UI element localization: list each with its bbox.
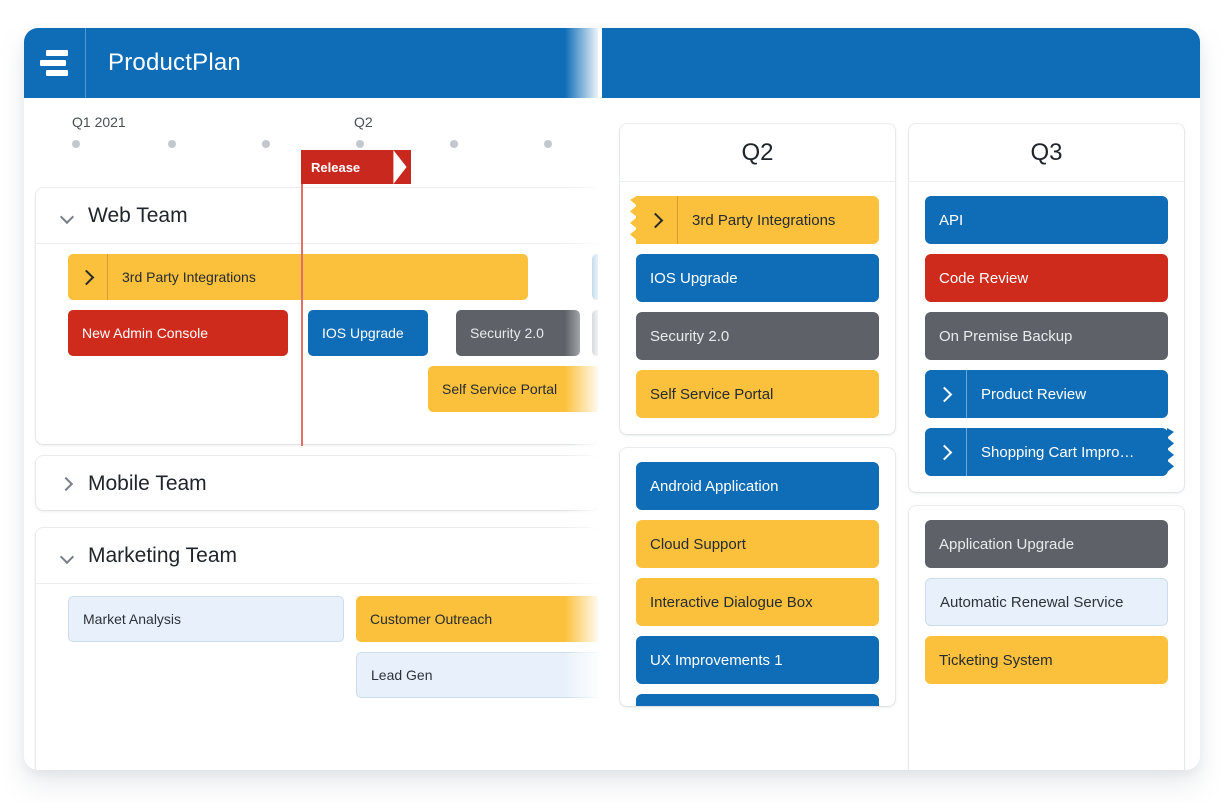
- section-header-mobile-team[interactable]: Mobile Team: [36, 456, 598, 512]
- board-card-label: Code Review: [925, 270, 1028, 287]
- board-card[interactable]: Automatic Renewal Service: [925, 578, 1168, 626]
- board-card[interactable]: IOS Upgrade: [636, 254, 879, 302]
- app-window: ProductPlan Q1 2021Q2 Release Web Team3r…: [24, 28, 1200, 770]
- gantt-section: Web Team3rd Party IntegrationsNew Admin …: [36, 188, 598, 444]
- gantt-bar-label: New Admin Console: [68, 325, 208, 341]
- board-card[interactable]: Product Review: [925, 370, 1168, 418]
- section-title: Mobile Team: [88, 472, 207, 496]
- gantt-panel: ProductPlan Q1 2021Q2 Release Web Team3r…: [24, 28, 598, 770]
- board-card[interactable]: UX Improvements 1: [636, 636, 879, 684]
- timeline-tick-dot: [262, 140, 270, 148]
- gantt-bar[interactable]: Market Analysis: [68, 596, 344, 642]
- gantt-bar[interactable]: Lead Gen: [356, 652, 598, 698]
- gantt-bar[interactable]: [592, 254, 598, 300]
- board-card-label: API: [925, 212, 963, 229]
- board-card[interactable]: 3rd Party Integrations: [636, 196, 879, 244]
- board-card[interactable]: Interactive Dialogue Box: [636, 578, 879, 626]
- expand-chevron-icon[interactable]: [925, 428, 967, 476]
- gantt-bar[interactable]: Self Service Portal: [428, 366, 598, 412]
- timeline-header: Q1 2021Q2: [24, 98, 598, 158]
- board-card[interactable]: Application Upgrade: [925, 520, 1168, 568]
- board-column-body-lower: Application UpgradeAutomatic Renewal Ser…: [909, 506, 1184, 700]
- board-card-label: 3rd Party Integrations: [678, 212, 835, 229]
- board-card[interactable]: Security 2.0: [636, 312, 879, 360]
- board-card[interactable]: On Premise Backup: [925, 312, 1168, 360]
- chevron-down-icon[interactable]: [60, 549, 74, 563]
- board-panel: Q23rd Party IntegrationsIOS UpgradeSecur…: [602, 28, 1200, 770]
- page-title: ProductPlan: [86, 49, 241, 77]
- board-card-label: Android Application: [636, 478, 778, 495]
- board-column-title: Q3: [909, 124, 1184, 182]
- gantt-bar[interactable]: New Admin Console: [68, 310, 288, 356]
- board-card[interactable]: Cloud Support: [636, 520, 879, 568]
- timeline-label: Q1 2021: [72, 114, 126, 130]
- board-card-label: Application Upgrade: [925, 536, 1074, 553]
- section-title: Web Team: [88, 204, 188, 228]
- board-card[interactable]: API: [925, 196, 1168, 244]
- board-card[interactable]: UX Improvements 2: [636, 694, 879, 706]
- board-column-body: 3rd Party IntegrationsIOS UpgradeSecurit…: [620, 182, 895, 434]
- section-title: Marketing Team: [88, 544, 237, 568]
- board-card[interactable]: Code Review: [925, 254, 1168, 302]
- board-column: Q3APICode ReviewOn Premise BackupProduct…: [909, 124, 1184, 770]
- release-milestone-label: Release: [301, 160, 360, 175]
- expand-chevron-icon[interactable]: [636, 196, 678, 244]
- gantt-bar-label: Lead Gen: [357, 667, 433, 683]
- board-column-card-lower: Android ApplicationCloud SupportInteract…: [620, 448, 895, 706]
- board-card[interactable]: Ticketing System: [925, 636, 1168, 684]
- board-card-label: Shopping Cart Impro…: [967, 444, 1134, 461]
- gantt-section: Mobile Team: [36, 456, 598, 510]
- hamburger-menu-button[interactable]: [24, 28, 86, 98]
- chevron-down-icon[interactable]: [60, 209, 74, 223]
- app-header: ProductPlan: [24, 28, 598, 98]
- board-card-label: Automatic Renewal Service: [926, 594, 1123, 611]
- product-plan-logo-icon: [40, 50, 70, 76]
- board-card-label: Ticketing System: [925, 652, 1053, 669]
- gantt-bar[interactable]: 3rd Party Integrations: [68, 254, 528, 300]
- board-card[interactable]: Android Application: [636, 462, 879, 510]
- board-column-card-lower: Application UpgradeAutomatic Renewal Ser…: [909, 506, 1184, 770]
- gantt-bar[interactable]: Customer Outreach: [356, 596, 598, 642]
- board-card[interactable]: Shopping Cart Impro…: [925, 428, 1168, 476]
- gantt-bar-label: Self Service Portal: [428, 381, 557, 397]
- timeline-tick-dot: [450, 140, 458, 148]
- gantt-bar[interactable]: Security 2.0: [456, 310, 580, 356]
- board-card[interactable]: Self Service Portal: [636, 370, 879, 418]
- board-card-label: Product Review: [967, 386, 1086, 403]
- chevron-right-icon[interactable]: [60, 477, 74, 491]
- board-card-label: Cloud Support: [636, 536, 746, 553]
- board-column-card: Q23rd Party IntegrationsIOS UpgradeSecur…: [620, 124, 895, 434]
- expand-chevron-icon[interactable]: [68, 254, 108, 300]
- gantt-bar-label: IOS Upgrade: [308, 325, 404, 341]
- board-card-label: UX Improvements 1: [636, 652, 783, 669]
- gantt-bar-label: On Premise Backup: [592, 325, 598, 341]
- gantt-section: Marketing TeamMarket AnalysisCustomer Ou…: [36, 528, 598, 770]
- board-card-label: IOS Upgrade: [636, 270, 738, 287]
- release-marker-line: [301, 150, 303, 446]
- timeline-tick-dot: [72, 140, 80, 148]
- gantt-bar[interactable]: IOS Upgrade: [308, 310, 428, 356]
- timeline-label: Q2: [354, 114, 373, 130]
- gantt-bar-label: Customer Outreach: [356, 611, 492, 627]
- expand-chevron-icon[interactable]: [592, 254, 598, 300]
- gantt-bar-label: Security 2.0: [456, 325, 544, 341]
- gantt-bar[interactable]: On Premise Backup: [592, 310, 598, 356]
- board-column: Q23rd Party IntegrationsIOS UpgradeSecur…: [620, 124, 895, 770]
- board-column-card: Q3APICode ReviewOn Premise BackupProduct…: [909, 124, 1184, 492]
- expand-chevron-icon[interactable]: [925, 370, 967, 418]
- board-header-bar: [602, 28, 1200, 98]
- board-column-body: APICode ReviewOn Premise BackupProduct R…: [909, 182, 1184, 492]
- gantt-bar-label: Market Analysis: [69, 611, 181, 627]
- section-header-marketing-team[interactable]: Marketing Team: [36, 528, 598, 584]
- board-card-label: Interactive Dialogue Box: [636, 594, 813, 611]
- timeline-tick-dot: [168, 140, 176, 148]
- board-column-body-lower: Android ApplicationCloud SupportInteract…: [620, 448, 895, 706]
- board-column-title: Q2: [620, 124, 895, 182]
- board-card-label: Self Service Portal: [636, 386, 773, 403]
- gantt-bar-label: 3rd Party Integrations: [108, 269, 256, 285]
- timeline-tick-dot: [544, 140, 552, 148]
- board-card-label: On Premise Backup: [925, 328, 1072, 345]
- board-columns: Q23rd Party IntegrationsIOS UpgradeSecur…: [602, 98, 1200, 770]
- section-header-web-team[interactable]: Web Team: [36, 188, 598, 244]
- timeline-tick-dot: [356, 140, 364, 148]
- board-card-label: Security 2.0: [636, 328, 729, 345]
